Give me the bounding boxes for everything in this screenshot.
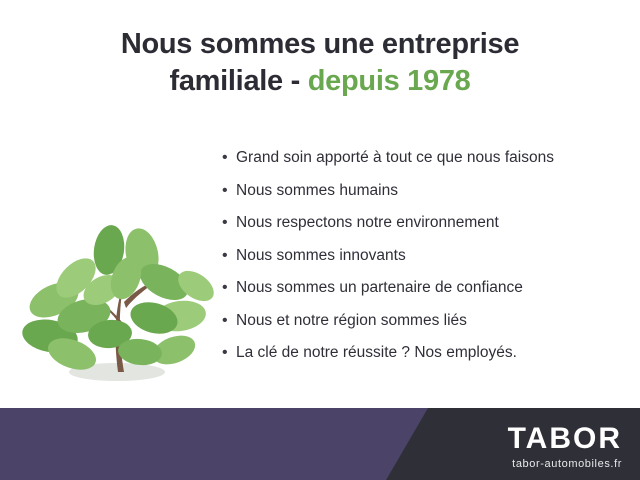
- title-accent-year: depuis 1978: [308, 65, 471, 97]
- title-line-2: familiale - depuis 1978: [0, 63, 640, 100]
- list-item: • Nous respectons notre environnement: [222, 213, 630, 233]
- title-line-2-prefix: familiale -: [170, 65, 300, 97]
- list-item-label: Nous sommes humains: [236, 181, 398, 201]
- footer-banner: TABOR tabor-automobiles.fr: [0, 408, 640, 480]
- tree-illustration: [14, 150, 224, 390]
- list-item: • La clé de notre réussite ? Nos employé…: [222, 343, 630, 363]
- list-item: • Nous sommes humains: [222, 181, 630, 201]
- list-item-label: Nous et notre région sommes liés: [236, 311, 467, 331]
- title-line-1: Nous sommes une entreprise: [121, 28, 519, 60]
- list-item: • Grand soin apporté à tout ce que nous …: [222, 148, 630, 168]
- list-item-label: Grand soin apporté à tout ce que nous fa…: [236, 148, 554, 168]
- brand-name: TABOR: [508, 424, 622, 454]
- list-item-label: La clé de notre réussite ? Nos employés.: [236, 343, 517, 363]
- bullet-dot-icon: •: [222, 246, 236, 266]
- brand-website: tabor-automobiles.fr: [508, 458, 622, 470]
- bullet-dot-icon: •: [222, 343, 236, 363]
- list-item-label: Nous respectons notre environnement: [236, 213, 499, 233]
- list-item: • Nous sommes un partenaire de confiance: [222, 278, 630, 298]
- list-item: • Nous et notre région sommes liés: [222, 311, 630, 331]
- bullet-dot-icon: •: [222, 181, 236, 201]
- list-item-label: Nous sommes innovants: [236, 246, 406, 266]
- bullet-list: • Grand soin apporté à tout ce que nous …: [222, 148, 630, 376]
- bullet-dot-icon: •: [222, 278, 236, 298]
- bullet-dot-icon: •: [222, 311, 236, 331]
- bullet-dot-icon: •: [222, 148, 236, 168]
- list-item: • Nous sommes innovants: [222, 246, 630, 266]
- page-title: Nous sommes une entreprise familiale - d…: [0, 26, 640, 100]
- list-item-label: Nous sommes un partenaire de confiance: [236, 278, 523, 298]
- brand-logo: TABOR tabor-automobiles.fr: [508, 424, 622, 470]
- bullet-dot-icon: •: [222, 213, 236, 233]
- slide: Nous sommes une entreprise familiale - d…: [0, 0, 640, 480]
